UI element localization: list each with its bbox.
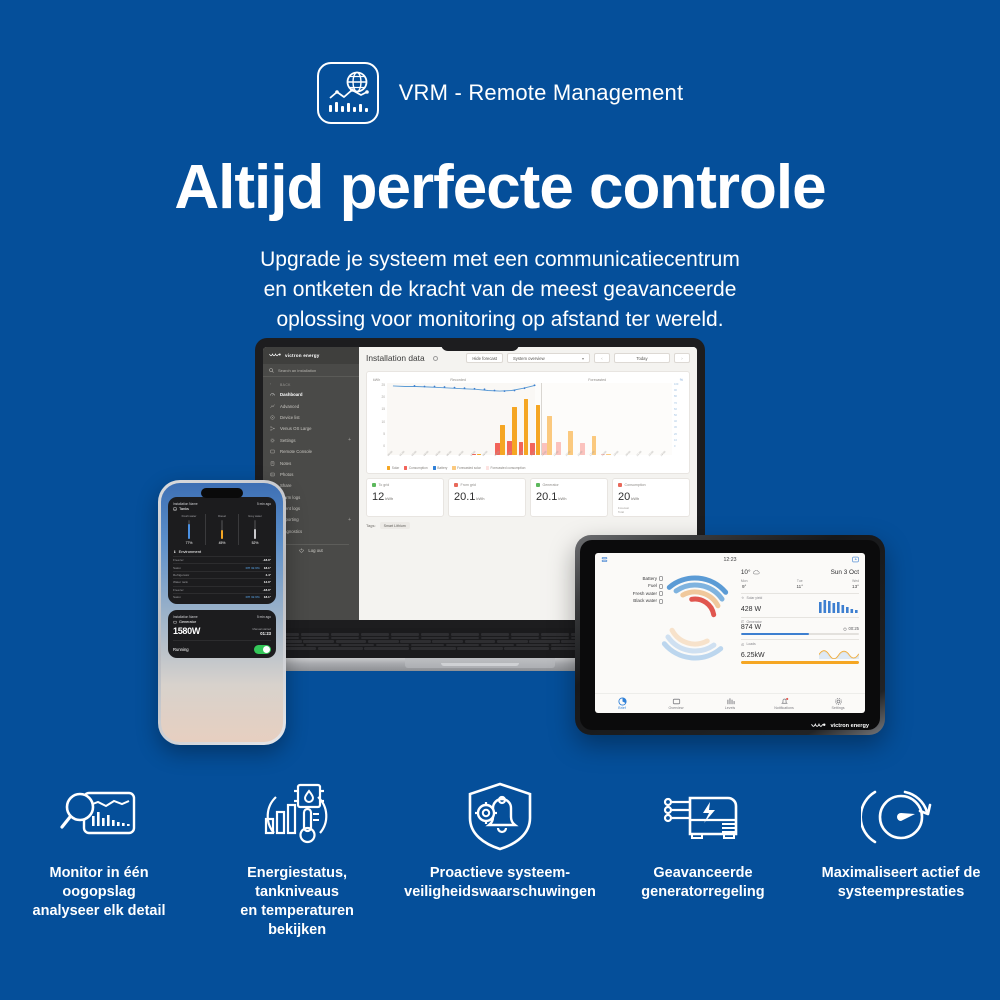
key[interactable] — [481, 637, 509, 640]
search-input[interactable]: Search an installation — [263, 364, 359, 377]
y2-tick: 70 — [674, 402, 683, 405]
key[interactable] — [411, 644, 444, 647]
bar-group — [565, 383, 576, 455]
nav-label: Brief — [618, 706, 625, 710]
y2-tick: 40 — [674, 420, 683, 423]
chart-plot-area: 2520151050 — [373, 383, 683, 455]
bell-icon — [757, 697, 811, 705]
stat-value: 20kWh — [618, 491, 684, 503]
expand-icon[interactable]: + — [348, 437, 351, 443]
tanks-title: Tanks — [173, 507, 271, 511]
tank-label: Grey water — [239, 514, 271, 518]
gear-icon — [270, 438, 275, 443]
bar-group — [483, 383, 494, 455]
sidebar-item-label: Venus OS Large — [280, 426, 312, 431]
environment-rows: Freezer-18.0°SalonRH 32.6%18.1°Refrigera… — [173, 556, 271, 600]
gx-nav-brief[interactable]: Brief — [595, 697, 649, 710]
prev-day-button[interactable]: ‹ — [594, 353, 610, 363]
legend-item: Battery — [433, 466, 448, 470]
installation-name: Installation Name — [173, 615, 198, 619]
cloud-icon — [753, 570, 760, 575]
feature-energy-status: Energiestatus, tankniveaus en temperatur… — [198, 780, 396, 941]
key[interactable] — [465, 640, 496, 643]
y-tick: 10 — [373, 420, 385, 424]
feature-generator-control: Geavanceerde generatorregeling — [604, 780, 802, 902]
gx-touch-device: 12:23 BatteryFuelFresh waterBlack water — [575, 535, 885, 735]
gear-icon — [811, 697, 865, 705]
gx-levels-arcs[interactable]: BatteryFuelFresh waterBlack water — [601, 566, 737, 693]
env-temp: 4.4° — [265, 573, 271, 577]
environment-row: Refrigerator4.4° — [173, 571, 271, 578]
env-name: Water tank — [173, 580, 260, 584]
tank-gauge: Diesel45% — [206, 514, 239, 545]
gx-metric-generator: Generator 874 W 00:25 — [741, 617, 859, 636]
bar-group — [612, 383, 623, 455]
feature-label: Maximaliseert actief de systeemprestatie… — [810, 864, 992, 902]
victron-logo-text: victron energy — [285, 353, 319, 358]
bar-group — [635, 383, 646, 455]
env-name: Freezer — [173, 588, 259, 592]
chevron-down-icon: ▾ — [582, 356, 584, 361]
legend-item: Solar — [387, 466, 399, 470]
tank-list: Fresh water77%Diesel45%Grey water52% — [173, 514, 271, 545]
key[interactable] — [541, 637, 569, 640]
search-icon — [269, 368, 274, 373]
env-name: Freezer — [173, 558, 259, 562]
tank-gauge: Grey water52% — [239, 514, 271, 545]
tank-label: Diesel — [206, 514, 238, 518]
bar-group — [436, 383, 447, 455]
stat-sub: ForecastTotal — [618, 506, 684, 514]
generator-status: Running — [173, 647, 189, 652]
bar-group — [389, 383, 400, 455]
chart-canvas — [387, 383, 672, 455]
generator-title: Generator — [173, 620, 271, 624]
env-name: Salon — [173, 595, 246, 599]
chart-icon — [270, 404, 275, 409]
forecast-day: Tue11° — [796, 579, 803, 589]
tank-icon — [173, 507, 177, 511]
stat-label: To grid — [372, 483, 438, 487]
tank-pct: 52% — [239, 541, 271, 545]
gauge-icon — [270, 392, 275, 397]
bar-group — [495, 383, 506, 455]
chart-ylabel: kWh — [373, 378, 395, 382]
brand-row: VRM - Remote Management — [0, 0, 1000, 124]
magnifier-chart-icon — [8, 780, 190, 852]
sidebar-item-remote-console[interactable]: Remote Console — [263, 446, 359, 457]
toolbar-controls: Hide forecast System overview ▾ ‹ Today … — [466, 353, 690, 363]
y2-tick: 60 — [674, 408, 683, 411]
nav-label: Overview — [669, 706, 684, 710]
key[interactable] — [391, 637, 419, 640]
info-icon[interactable] — [433, 356, 438, 361]
subtitle-line-1: Upgrade je systeem met een communicatiec… — [0, 245, 1000, 275]
environment-row: Freezer-18.0° — [173, 556, 271, 563]
gx-weather-now: 10° Sun 3 Oct — [741, 569, 859, 576]
weather-date: Sun 3 Oct — [831, 569, 859, 576]
bar-group — [448, 383, 459, 455]
environment-row: SalonRH 32.6%18.1° — [173, 563, 271, 570]
tank-pct: 77% — [173, 541, 205, 545]
env-temp: -18.0° — [263, 588, 271, 592]
stat-label: From grid — [454, 483, 520, 487]
bar-group — [401, 383, 412, 455]
chart-y-axis: 2520151050 — [373, 383, 387, 455]
manual-started-time: 01:23 — [252, 631, 271, 636]
power-icon — [299, 548, 304, 553]
tanks-widget-header: Installation Name 5 min ago — [173, 502, 271, 506]
sidebar-item-label: BACK — [280, 383, 291, 387]
generator-widget[interactable]: Installation Name 5 min ago Generator 15… — [168, 610, 276, 658]
generator-power: 1580W — [173, 626, 200, 636]
features-row: Monitor in één oogopslag analyseer elk d… — [0, 780, 1000, 941]
y2-tick: 10 — [674, 439, 683, 442]
tags-row: Tags: Smart Lithium — [366, 522, 690, 529]
expand-icon[interactable]: + — [348, 517, 351, 523]
generator-run-row: Running — [173, 640, 271, 654]
bar-group — [412, 383, 423, 455]
tank-pct: 45% — [206, 541, 238, 545]
sidebar-item-label: Advanced — [280, 404, 299, 409]
legend-item: Forecasted consumption — [486, 466, 526, 470]
overview-icon — [649, 697, 703, 705]
forecast-day: Wed13° — [852, 579, 859, 589]
gx-screen: 12:23 BatteryFuelFresh waterBlack water — [595, 553, 865, 713]
gx-statusbar: 12:23 — [595, 553, 865, 566]
key[interactable] — [303, 640, 334, 643]
env-name: Refrigerator — [173, 573, 261, 577]
laptop-trackpad — [405, 658, 555, 668]
levels-icon — [703, 697, 757, 705]
device-icon — [270, 415, 275, 420]
subtitle-line-2: en ontketen de kracht van de meest geava… — [0, 275, 1000, 305]
battery-stack-icon — [601, 556, 608, 563]
key[interactable] — [451, 637, 479, 640]
gx-bottom-nav: BriefOverviewLevelsNotificationsSettings — [595, 693, 865, 713]
console-icon — [270, 449, 275, 454]
node-icon — [270, 426, 275, 431]
env-name: Salon — [173, 566, 246, 570]
victron-logo-icon — [811, 722, 827, 730]
bar-group — [600, 383, 611, 455]
timestamp: 5 min ago — [257, 615, 271, 619]
gx-metric-loads: Loads 6.25kW — [741, 639, 859, 663]
key[interactable] — [511, 633, 539, 636]
stat-card: To grid12kWh — [366, 478, 444, 517]
sidebar-item-label: Device list — [280, 415, 300, 420]
tank-thermometer-icon — [206, 780, 388, 852]
legend-item: Forecasted solar — [452, 466, 480, 470]
key[interactable] — [511, 637, 539, 640]
key[interactable] — [516, 644, 549, 647]
hide-forecast-button[interactable]: Hide forecast — [466, 353, 503, 363]
y2-tick: 20 — [674, 433, 683, 436]
gx-info-panel: 10° Sun 3 Oct Mon9°Tue11°Wed13° Solar yi… — [741, 566, 859, 693]
key[interactable] — [318, 647, 363, 650]
bar-group — [577, 383, 588, 455]
level-arcs-icon — [647, 570, 743, 666]
chevron-left-icon: ‹ — [270, 382, 275, 387]
sidebar-item-photos[interactable]: Photos — [263, 469, 359, 480]
stat-cards: To grid12kWhFrom grid20.1kWhGenerator20.… — [366, 478, 690, 517]
timer-icon — [843, 627, 847, 631]
chart-card: kWh Recorded Forecasted % 2520151050 — [366, 371, 690, 474]
feature-max-performance: Maximaliseert actief de systeemprestatie… — [802, 780, 1000, 902]
generator-title-label: Generator — [179, 620, 196, 624]
chart-x-axis: 00:0001:0002:0003:0004:0005:0006:0007:00… — [387, 455, 672, 458]
bar-group — [530, 383, 541, 455]
y2-tick: 50 — [674, 414, 683, 417]
key[interactable] — [529, 640, 560, 643]
generator-icon — [173, 620, 177, 624]
key[interactable] — [411, 647, 456, 650]
gx-brand-text: victron energy — [830, 723, 869, 729]
victron-logo-icon — [269, 352, 282, 359]
stat-card: From grid20.1kWh — [448, 478, 526, 517]
device-stage: victron energy Search an installation ‹ … — [0, 320, 1000, 770]
forecast-divider — [541, 383, 542, 455]
day-temp: 13° — [852, 584, 859, 589]
feature-label: Monitor in één oogopslag analyseer elk d… — [8, 864, 190, 921]
key[interactable] — [361, 633, 389, 636]
stat-label: Generator — [536, 483, 602, 487]
sidebar-item-label: Dashboard — [280, 392, 302, 397]
tank-bar — [254, 520, 256, 539]
stat-label: Consumption — [618, 483, 684, 487]
environment-label: Environment — [179, 549, 201, 554]
key[interactable] — [541, 633, 569, 636]
y2-tick: 30 — [674, 426, 683, 429]
sidebar-item-advanced[interactable]: Advanced — [263, 400, 359, 411]
sidebar-item-label: Settings — [280, 438, 296, 443]
chart-legend: SolarConsumptionBatteryForecasted solarF… — [373, 466, 683, 470]
solar-yield-value: 428 W — [741, 606, 761, 613]
gx-bezel: 12:23 BatteryFuelFresh waterBlack water — [580, 540, 880, 730]
loads-wave-icon — [819, 646, 859, 659]
env-humidity: RH 32.6% — [246, 595, 260, 599]
stat-value: 20.1kWh — [454, 491, 520, 503]
dynamic-island — [201, 488, 243, 498]
photo-icon — [270, 472, 275, 477]
feature-label: Proactieve systeem- veiligheidswaarschuw… — [404, 864, 596, 902]
environment-row: SalonRH 32.6%18.1° — [173, 593, 271, 600]
laptop-notch — [441, 338, 519, 351]
loads-progress — [741, 661, 859, 663]
logout-label: Log out — [308, 548, 322, 553]
key[interactable] — [331, 633, 359, 636]
key[interactable] — [497, 640, 528, 643]
sidebar-item-device-list[interactable]: Device list — [263, 412, 359, 423]
y2-tick: 0 — [674, 445, 683, 448]
key[interactable] — [341, 644, 374, 647]
tank-bar — [188, 520, 190, 539]
y-tick: 0 — [373, 444, 385, 448]
sidebar-item-dashboard[interactable]: Dashboard — [263, 389, 359, 400]
key[interactable] — [391, 633, 419, 636]
screen-icon — [852, 556, 859, 563]
tank-label: Fresh water — [173, 514, 205, 518]
generator-runtime: 00:25 — [843, 626, 859, 631]
brand-title: VRM - Remote Management — [399, 80, 684, 106]
tanks-widget[interactable]: Installation Name 5 min ago Tanks Fresh … — [168, 497, 276, 604]
generator-bolt-icon — [612, 780, 794, 852]
bar-group — [459, 383, 470, 455]
key[interactable] — [336, 640, 367, 643]
gx-forecast-days: Mon9°Tue11°Wed13° — [741, 579, 859, 589]
y-tick: 20 — [373, 395, 385, 399]
key[interactable] — [301, 633, 329, 636]
key[interactable] — [421, 633, 449, 636]
feature-label: Geavanceerde generatorregeling — [612, 864, 794, 902]
sidebar-item-settings[interactable]: Settings + — [263, 435, 359, 446]
bar-group — [553, 383, 564, 455]
select-value: System overview — [513, 356, 545, 361]
y2-tick: 90 — [674, 389, 683, 392]
tank-bar — [221, 520, 223, 539]
sidebar-item-label: Notes — [280, 461, 291, 466]
notes-icon — [270, 461, 275, 466]
bar-group — [518, 383, 529, 455]
day-temp: 11° — [796, 584, 803, 589]
key[interactable] — [481, 644, 514, 647]
bar-group — [471, 383, 482, 455]
installation-data-title: Installation data — [366, 353, 425, 363]
env-humidity: RH 32.6% — [246, 566, 260, 570]
y-tick: 5 — [373, 432, 385, 436]
key[interactable] — [361, 637, 389, 640]
feature-monitor: Monitor in één oogopslag analyseer elk d… — [0, 780, 198, 921]
gx-nav-levels[interactable]: Levels — [703, 697, 757, 710]
chart-header: kWh Recorded Forecasted % — [373, 378, 683, 382]
env-temp: 18.1° — [264, 595, 271, 599]
gx-clock: 12:23 — [724, 557, 737, 563]
sidebar-item-label: Remote Console — [280, 449, 312, 454]
phone-screen: Installation Name 5 min ago Tanks Fresh … — [161, 483, 283, 742]
feature-proactive-alerts: Proactieve systeem- veiligheidswaarschuw… — [396, 780, 604, 902]
brief-icon — [595, 697, 649, 705]
key[interactable] — [481, 633, 509, 636]
y-tick: 15 — [373, 407, 385, 411]
solar-bars-icon — [819, 600, 859, 613]
stat-card: Generator20.1kWh — [530, 478, 608, 517]
sidebar-item-back[interactable]: ‹ BACK — [263, 380, 359, 389]
stat-value: 12kWh — [372, 491, 438, 503]
chart-right-axis-label: % — [673, 378, 683, 382]
env-temp: 18.1° — [264, 566, 271, 570]
tag-chip[interactable]: Smart Lithium — [380, 522, 410, 529]
bar-group — [542, 383, 553, 455]
generator-value: 874 W — [741, 624, 761, 631]
system-overview-select[interactable]: System overview ▾ — [507, 353, 590, 363]
tags-label: Tags: — [366, 523, 376, 528]
gx-nav-overview[interactable]: Overview — [649, 697, 703, 710]
stat-card: Consumption20kWhForecastTotal — [612, 478, 690, 517]
bar-group — [588, 383, 599, 455]
key[interactable] — [504, 647, 549, 650]
key[interactable] — [400, 640, 431, 643]
key[interactable] — [457, 647, 502, 650]
generator-widget-header: Installation Name 5 min ago — [173, 615, 271, 619]
chart-forecasted-label: Forecasted — [521, 378, 673, 382]
timestamp: 5 min ago — [257, 502, 271, 506]
sidebar-item-label: Photos — [280, 472, 293, 477]
tanks-title-label: Tanks — [179, 507, 189, 511]
sidebar-item-venus-os-large[interactable]: Venus OS Large — [263, 423, 359, 434]
phone-device: Installation Name 5 min ago Tanks Fresh … — [158, 480, 286, 745]
gx-metric-solar: Solar yield 428 W — [741, 593, 859, 613]
vrm-globe-chart-icon — [317, 62, 379, 124]
page-title: Altijd perfecte controle — [0, 152, 1000, 223]
environment-title: Environment — [173, 549, 271, 554]
vrm-topbar: Installation data Hide forecast System o… — [359, 347, 697, 369]
key[interactable] — [446, 644, 479, 647]
thermometer-icon — [173, 550, 177, 554]
date-range-button[interactable]: Today — [614, 353, 670, 363]
legend-item: Consumption — [404, 466, 427, 470]
search-placeholder: Search an installation — [278, 368, 316, 373]
gx-brand: victron energy — [811, 722, 869, 730]
bar-group — [624, 383, 635, 455]
tank-gauge: Fresh water77% — [173, 514, 206, 545]
generator-toggle[interactable] — [254, 645, 271, 655]
bar — [606, 454, 611, 455]
gx-nav-settings[interactable]: Settings — [811, 697, 865, 710]
y2-tick: 80 — [674, 395, 683, 398]
vrm-sidebar-logo: victron energy — [263, 347, 359, 364]
day-label: Tue — [797, 579, 803, 583]
key[interactable] — [432, 640, 463, 643]
y2-tick: 100 — [674, 383, 683, 386]
chart-recorded-label: Recorded — [395, 378, 521, 382]
y-tick: 25 — [373, 383, 385, 387]
gauge-arrow-icon — [810, 780, 992, 852]
environment-row: Freezer-18.0° — [173, 586, 271, 593]
day-label: Wed — [852, 579, 859, 583]
key[interactable] — [421, 637, 449, 640]
stat-value: 20.1kWh — [536, 491, 602, 503]
key[interactable] — [368, 640, 399, 643]
nav-label: Levels — [725, 706, 735, 710]
key[interactable] — [376, 644, 409, 647]
shield-bell-gear-icon — [404, 780, 596, 852]
chart-y2-axis: 1009080706050403020100 — [672, 383, 683, 455]
bar-group — [424, 383, 435, 455]
gx-body: BatteryFuelFresh waterBlack water — [595, 566, 865, 693]
chart-bars — [387, 383, 672, 455]
key[interactable] — [451, 633, 479, 636]
bar-group — [506, 383, 517, 455]
nav-label: Notifications — [774, 706, 794, 710]
loads-value: 6.25kW — [741, 652, 765, 659]
sidebar-item-label: Share — [280, 483, 291, 488]
key[interactable] — [301, 637, 329, 640]
bar-group — [659, 383, 670, 455]
generator-progress — [741, 633, 859, 635]
sidebar-item-notes[interactable]: Notes — [263, 457, 359, 468]
next-day-button[interactable]: › — [674, 353, 690, 363]
installation-name: Installation Name — [173, 502, 198, 506]
env-temp: -18.0° — [263, 558, 271, 562]
nav-label: Settings — [832, 706, 845, 710]
feature-label: Energiestatus, tankniveaus en temperatur… — [206, 864, 388, 941]
env-temp: 12.0° — [264, 580, 271, 584]
key[interactable] — [364, 647, 409, 650]
key[interactable] — [306, 644, 339, 647]
key[interactable] — [331, 637, 359, 640]
bar-group — [647, 383, 658, 455]
gx-nav-notifications[interactable]: Notifications — [757, 697, 811, 710]
